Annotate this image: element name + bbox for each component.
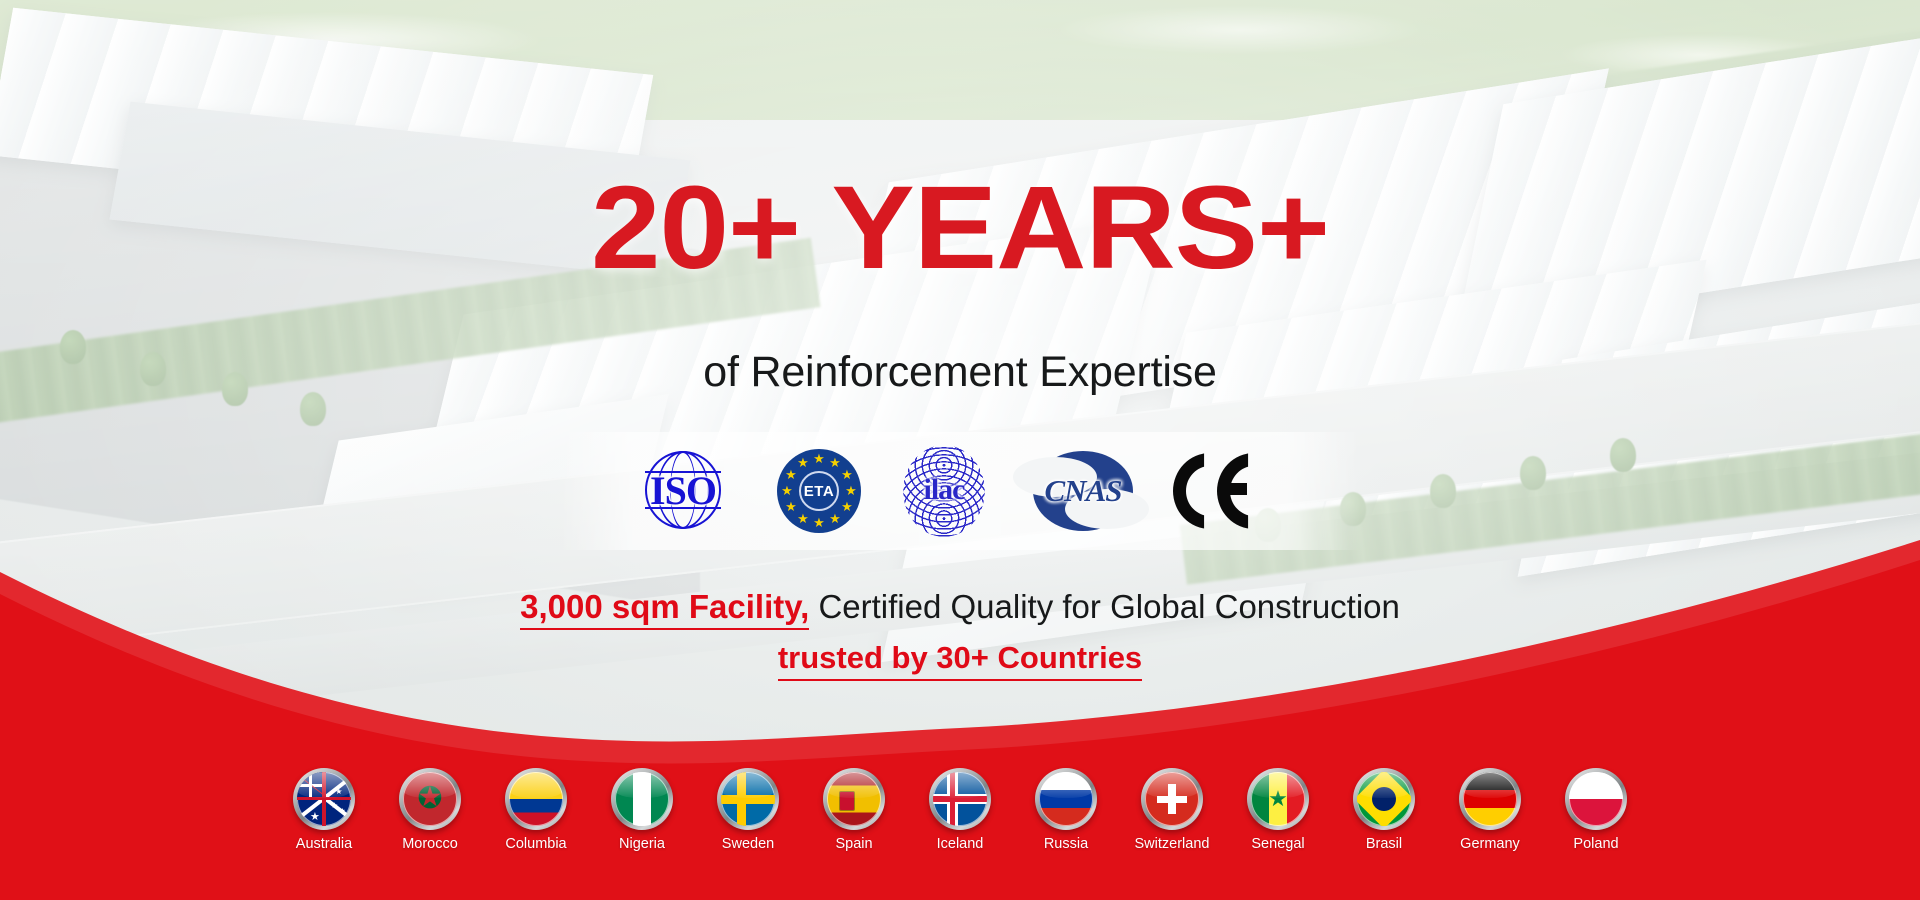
flag-item-brasil[interactable]: Brasil <box>1339 768 1429 852</box>
spain-flag-icon <box>823 768 885 830</box>
cnas-disc-icon: CNAS <box>1027 449 1139 533</box>
page-title: 20+ YEARS+ <box>0 168 1920 288</box>
flag-label: Columbia <box>505 836 566 852</box>
iso-globe-icon: ISO <box>631 449 735 533</box>
flag-label: Iceland <box>937 836 984 852</box>
flag-item-switzerland[interactable]: Switzerland <box>1127 768 1217 852</box>
flag-label: Morocco <box>402 836 458 852</box>
flag-label: Australia <box>296 836 352 852</box>
flag-label: Switzerland <box>1135 836 1210 852</box>
eta-label: ETA <box>799 471 839 511</box>
morocco-flag-icon: ✪ <box>399 768 461 830</box>
tagline-rest: Certified Quality for Global Constructio… <box>809 588 1400 625</box>
cert-cnas: CNAS <box>1027 449 1139 533</box>
flag-item-morocco[interactable]: ✪ Morocco <box>385 768 475 852</box>
flag-item-poland[interactable]: Poland <box>1551 768 1641 852</box>
flag-item-senegal[interactable]: ★ Senegal <box>1233 768 1323 852</box>
cert-eta: ★ ★ ★ ★ ★ ★ ★ ★ ★ ★ ★ ★ ETA <box>777 449 861 533</box>
switzerland-flag-icon <box>1141 768 1203 830</box>
flag-item-columbia[interactable]: Columbia <box>491 768 581 852</box>
certification-logos: ISO ★ ★ ★ ★ ★ ★ ★ ★ ★ ★ <box>560 432 1360 550</box>
flag-item-australia[interactable]: ★ ★ ★ ★ Australia <box>279 768 369 852</box>
flag-item-iceland[interactable]: Iceland <box>915 768 1005 852</box>
flag-label: Nigeria <box>619 836 665 852</box>
flag-item-nigeria[interactable]: Nigeria <box>597 768 687 852</box>
columbia-flag-icon <box>505 768 567 830</box>
australia-flag-icon: ★ ★ ★ ★ <box>293 768 355 830</box>
tagline-secondary-text: trusted by 30+ Countries <box>778 640 1142 681</box>
poland-flag-icon <box>1565 768 1627 830</box>
sweden-flag-icon <box>717 768 779 830</box>
cert-iso: ISO <box>631 449 735 533</box>
banner-content: 20+ YEARS+ of Reinforcement Expertise IS… <box>0 0 1920 900</box>
cert-ilac: ilac <box>903 445 985 537</box>
cert-ce <box>1181 449 1289 533</box>
flag-label: Poland <box>1573 836 1618 852</box>
ce-mark-icon <box>1181 449 1289 533</box>
flag-label: Brasil <box>1366 836 1402 852</box>
flag-item-sweden[interactable]: Sweden <box>703 768 793 852</box>
cnas-label: CNAS <box>1027 473 1139 509</box>
iceland-flag-icon <box>929 768 991 830</box>
flag-label: Russia <box>1044 836 1088 852</box>
senegal-flag-icon: ★ <box>1247 768 1309 830</box>
tagline-secondary: trusted by 30+ Countries <box>0 640 1920 676</box>
iso-label: ISO <box>631 469 735 513</box>
russia-flag-icon <box>1035 768 1097 830</box>
subtitle: of Reinforcement Expertise <box>0 348 1920 397</box>
nigeria-flag-icon <box>611 768 673 830</box>
flag-item-germany[interactable]: Germany <box>1445 768 1535 852</box>
flag-label: Senegal <box>1251 836 1304 852</box>
tagline-highlight: 3,000 sqm Facility, <box>520 588 809 630</box>
tagline-primary: 3,000 sqm Facility, Certified Quality fo… <box>0 588 1920 626</box>
brasil-flag-icon <box>1353 768 1415 830</box>
germany-flag-icon <box>1459 768 1521 830</box>
hero-banner: 20+ YEARS+ of Reinforcement Expertise IS… <box>0 0 1920 900</box>
ilac-label: ilac <box>903 473 985 507</box>
ilac-oval-icon: ilac <box>903 445 985 537</box>
flag-label: Sweden <box>722 836 774 852</box>
flag-label: Germany <box>1460 836 1520 852</box>
eta-stars-icon: ★ ★ ★ ★ ★ ★ ★ ★ ★ ★ ★ ★ ETA <box>777 449 861 533</box>
flag-label: Spain <box>835 836 872 852</box>
flag-item-russia[interactable]: Russia <box>1021 768 1111 852</box>
country-flags-list: ★ ★ ★ ★ Australia ✪ Morocco <box>0 768 1920 852</box>
flag-item-spain[interactable]: Spain <box>809 768 899 852</box>
